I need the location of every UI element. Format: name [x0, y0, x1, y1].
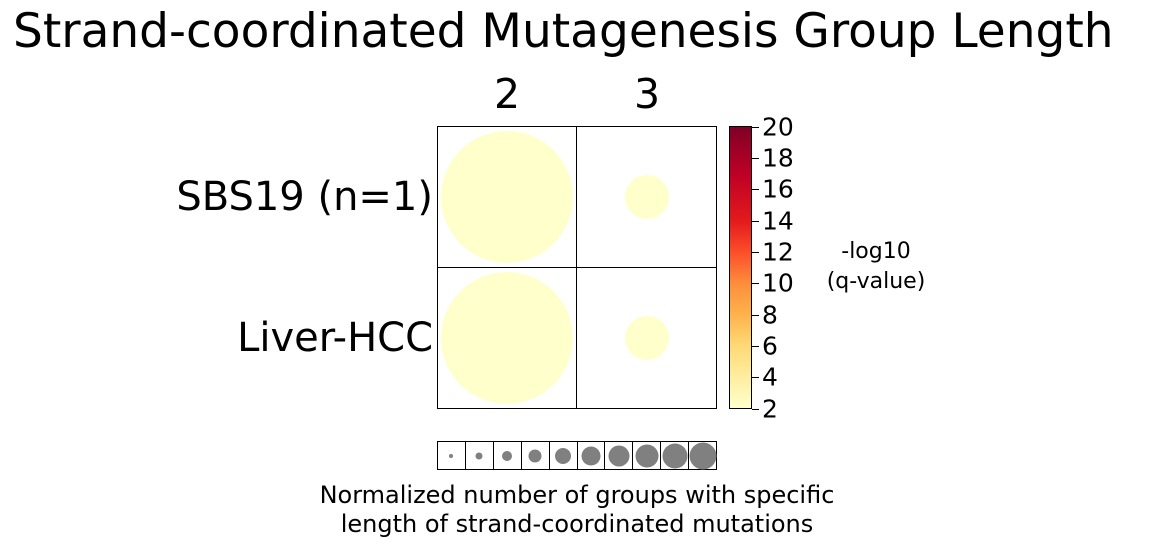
- colorbar: 2018161412108642: [729, 126, 752, 409]
- colorbar-tick-label: 8: [762, 302, 778, 327]
- size-legend-dot: [662, 443, 687, 468]
- colorbar-tick-label: 20: [762, 114, 794, 139]
- dotplot-cell-liver-hcc-2[interactable]: [438, 268, 577, 409]
- colorbar-tick-label: 10: [762, 271, 794, 296]
- size-legend-cell: [578, 442, 606, 469]
- size-legend-cell: [661, 442, 689, 469]
- bubble-sbs19-3[interactable]: [625, 175, 669, 219]
- colorbar-tick-mark: [752, 252, 759, 253]
- colorbar-tick-mark: [752, 127, 759, 128]
- row-label-sbs19: SBS19 (n=1): [13, 177, 433, 217]
- size-legend-cell: [633, 442, 661, 469]
- size-legend-dot: [608, 445, 629, 466]
- size-legend-cell: [522, 442, 550, 469]
- dotplot-cell-liver-hcc-3[interactable]: [577, 268, 716, 409]
- size-legend-cell: [494, 442, 522, 469]
- size-legend-dot: [689, 442, 716, 469]
- size-legend: [437, 441, 717, 470]
- colorbar-gradient: [729, 126, 752, 409]
- size-legend-dot: [476, 452, 483, 459]
- colorbar-tick-mark: [752, 315, 759, 316]
- colorbar-tick-mark: [752, 409, 759, 410]
- size-legend-dot: [502, 451, 512, 461]
- colorbar-tick-label: 6: [762, 333, 778, 358]
- dotplot-cell-sbs19-2[interactable]: [438, 127, 577, 268]
- colorbar-tick-mark: [752, 189, 759, 190]
- size-legend-cell: [605, 442, 633, 469]
- page-title: Strand-coordinated Mutagenesis Group Len…: [13, 3, 1143, 61]
- column-header-2: 2: [437, 70, 577, 118]
- colorbar-tick-label: 18: [762, 145, 794, 170]
- colorbar-tick-label: 14: [762, 208, 794, 233]
- size-legend-caption: Normalized number of groups with specifi…: [277, 481, 877, 539]
- dotplot-grid: [437, 126, 717, 409]
- colorbar-tick-mark: [752, 283, 759, 284]
- colorbar-label-line1: -log10: [812, 237, 940, 267]
- size-legend-dot: [529, 449, 542, 462]
- bubble-sbs19-2[interactable]: [441, 131, 573, 263]
- colorbar-tick-mark: [752, 346, 759, 347]
- colorbar-tick-mark: [752, 377, 759, 378]
- colorbar-tick-mark: [752, 221, 759, 222]
- colorbar-tick-label: 4: [762, 365, 778, 390]
- size-legend-cell: [466, 442, 494, 469]
- size-legend-cell: [550, 442, 578, 469]
- colorbar-axis-label: -log10 (q-value): [812, 237, 940, 297]
- size-legend-caption-line2: length of strand-coordinated mutations: [277, 510, 877, 539]
- size-legend-cell: [438, 442, 466, 469]
- colorbar-tick-label: 2: [762, 396, 778, 421]
- bubble-liver-hcc-3[interactable]: [625, 316, 669, 360]
- size-legend-dot: [635, 444, 658, 467]
- colorbar-tick-label: 16: [762, 177, 794, 202]
- colorbar-label-line2: (q-value): [812, 267, 940, 297]
- colorbar-tick-label: 12: [762, 239, 794, 264]
- size-legend-cell: [689, 442, 716, 469]
- column-header-3: 3: [577, 70, 717, 118]
- row-label-liver-hcc: Liver-HCC: [13, 318, 433, 358]
- bubble-liver-hcc-2[interactable]: [441, 272, 573, 404]
- size-legend-dot: [555, 448, 571, 464]
- dotplot-cell-sbs19-3[interactable]: [577, 127, 716, 268]
- size-legend-caption-line1: Normalized number of groups with specifi…: [277, 481, 877, 510]
- size-legend-dot: [449, 454, 453, 458]
- size-legend-dot: [581, 446, 600, 465]
- colorbar-tick-mark: [752, 158, 759, 159]
